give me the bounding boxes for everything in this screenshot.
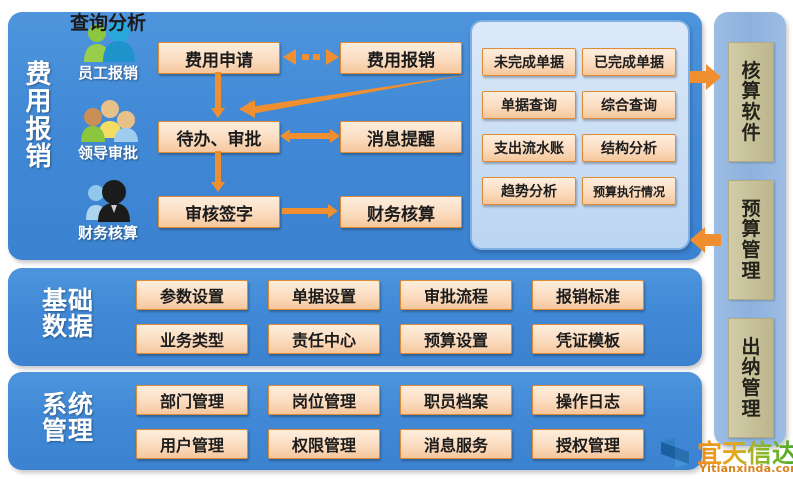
arrow-application-to-reimbursement	[282, 45, 340, 69]
query-button-budget-execution[interactable]: 预算执行情况	[582, 177, 676, 205]
role-label: 财务核算	[62, 222, 154, 243]
sidebar-char: 纳	[741, 357, 760, 378]
role-leader-approval: 领导审批	[62, 98, 154, 163]
basic-button-business-type[interactable]: 业务类型	[136, 324, 248, 354]
system-button-position-management[interactable]: 岗位管理	[268, 385, 380, 415]
basic-button-reimbursement-standard[interactable]: 报销标准	[532, 280, 644, 310]
system-button-department-management[interactable]: 部门管理	[136, 385, 248, 415]
arrow-audit-to-finance-head	[328, 204, 338, 218]
sidebar-char: 理	[741, 399, 760, 420]
query-button-trend-analysis[interactable]: 趋势分析	[482, 177, 576, 205]
query-button-comprehensive-query[interactable]: 综合查询	[582, 91, 676, 119]
sidebar-char: 算	[741, 219, 760, 240]
query-button-expense-ledger[interactable]: 支出流水账	[482, 134, 576, 162]
arrow-audit-to-finance-line	[282, 208, 330, 214]
arrow-message-to-todo-head	[280, 129, 290, 143]
query-button-unfinished-documents[interactable]: 未完成单据	[482, 48, 576, 76]
system-button-message-service[interactable]: 消息服务	[400, 429, 512, 459]
logo-domain: Yitianxinda.com	[699, 462, 793, 475]
system-button-operation-log[interactable]: 操作日志	[532, 385, 644, 415]
flow-box-audit-signature[interactable]: 审核签字	[158, 196, 280, 228]
basic-button-responsibility-center[interactable]: 责任中心	[268, 324, 380, 354]
three-people-icon	[62, 98, 154, 142]
basic-button-approval-process[interactable]: 审批流程	[400, 280, 512, 310]
sidebar-item-budget-management[interactable]: 预 算 管 理	[728, 180, 774, 300]
company-logo: 宜天信达 Yitianxinda.com	[655, 432, 793, 478]
flow-box-message-reminder[interactable]: 消息提醒	[340, 121, 462, 153]
basic-title-line-1: 数据	[22, 314, 114, 340]
arrow-to-accounting-software	[690, 62, 722, 92]
sidebar-char: 预	[741, 199, 760, 220]
sidebar-item-cashier-management[interactable]: 出 纳 管 理	[728, 318, 774, 438]
sidebar-char: 理	[741, 261, 760, 282]
arrow-from-budget-management	[690, 225, 722, 255]
title-char-0: 费	[18, 62, 60, 89]
diagram-canvas: 费 用 报 销 员工报销 领导审批	[0, 0, 793, 479]
flow-box-finance-accounting[interactable]: 财务核算	[340, 196, 462, 228]
query-button-finished-documents[interactable]: 已完成单据	[582, 48, 676, 76]
person-dark-icon-svg	[62, 178, 154, 222]
flow-box-expense-application[interactable]: 费用申请	[158, 42, 280, 74]
sidebar-char: 核	[741, 61, 760, 82]
sidebar-char: 出	[741, 337, 760, 358]
title-char-2: 报	[18, 117, 60, 144]
role-finance-accounting: 财务核算	[62, 178, 154, 243]
arrow-todo-to-audit-head	[211, 182, 225, 192]
basic-button-parameter-settings[interactable]: 参数设置	[136, 280, 248, 310]
panel-system-management-title: 系统 管理	[22, 392, 114, 445]
system-title-line-0: 系统	[22, 392, 114, 418]
query-analysis-title: 查询分析	[0, 8, 216, 35]
title-char-3: 销	[18, 144, 60, 171]
arrow-todo-to-audit-line	[215, 151, 221, 184]
query-button-structure-analysis[interactable]: 结构分析	[582, 134, 676, 162]
flow-box-expense-reimbursement[interactable]: 费用报销	[340, 42, 462, 74]
panel-expense-title: 费 用 报 销	[18, 62, 60, 171]
sidebar-char: 算	[741, 81, 760, 102]
system-button-user-management[interactable]: 用户管理	[136, 429, 248, 459]
system-button-permission-management[interactable]: 权限管理	[268, 429, 380, 459]
basic-button-voucher-template[interactable]: 凭证模板	[532, 324, 644, 354]
sidebar-char: 管	[741, 240, 760, 261]
logo-mark-icon	[657, 436, 693, 470]
role-label: 员工报销	[62, 62, 154, 83]
basic-button-budget-settings[interactable]: 预算设置	[400, 324, 512, 354]
arrow-todo-message-line	[288, 133, 332, 139]
basic-title-line-0: 基础	[22, 288, 114, 314]
three-people-icon-svg	[62, 98, 154, 142]
system-title-line-1: 管理	[22, 418, 114, 444]
system-button-employee-records[interactable]: 职员档案	[400, 385, 512, 415]
panel-basic-data-title: 基础 数据	[22, 288, 114, 341]
system-button-authorization-management[interactable]: 授权管理	[532, 429, 644, 459]
arrow-reimbursement-to-todo	[215, 72, 475, 118]
person-dark-icon	[62, 178, 154, 222]
flow-box-todo-approval[interactable]: 待办、审批	[158, 121, 280, 153]
sidebar-char: 管	[741, 378, 760, 399]
title-char-1: 用	[18, 89, 60, 116]
sidebar-char: 件	[741, 123, 760, 144]
sidebar-item-accounting-software[interactable]: 核 算 软 件	[728, 42, 774, 162]
basic-button-document-settings[interactable]: 单据设置	[268, 280, 380, 310]
role-label: 领导审批	[62, 142, 154, 163]
query-button-document-query[interactable]: 单据查询	[482, 91, 576, 119]
arrow-todo-to-message-head	[330, 129, 340, 143]
sidebar-char: 软	[741, 102, 760, 123]
